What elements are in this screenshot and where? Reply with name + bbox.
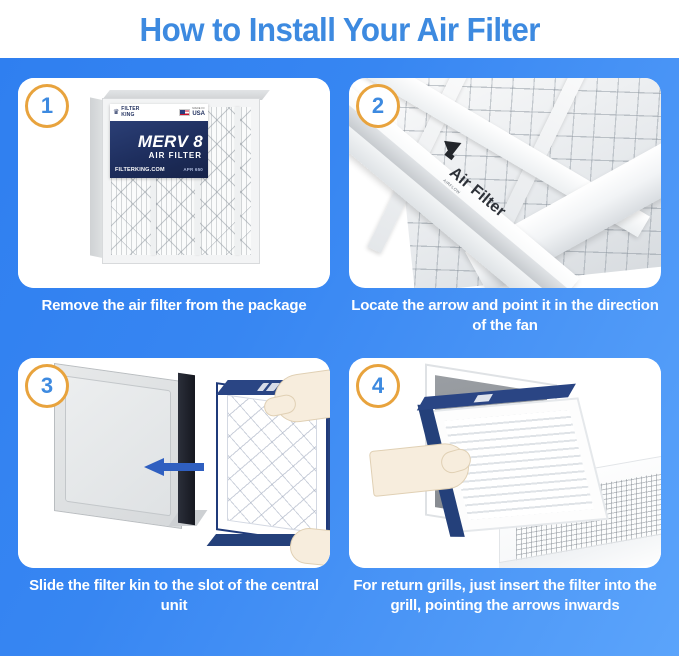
- filter-king-logo: ♛ FILTER KING: [113, 107, 140, 118]
- made-in-usa-badge: MADE IN USA: [179, 108, 205, 117]
- central-unit-panel: [65, 376, 171, 517]
- step-badge-4: 4: [356, 364, 400, 408]
- label-subtitle: AIR FILTER: [110, 151, 202, 160]
- page-title: How to Install Your Air Filter: [139, 13, 539, 46]
- country-text: USA: [192, 111, 205, 117]
- step-3-card: 3: [18, 358, 330, 568]
- filter-label-header: ♛ FILTER KING MADE IN: [110, 104, 208, 121]
- title-band: How to Install Your Air Filter: [0, 0, 679, 58]
- central-unit-slot: [178, 373, 195, 525]
- step-2-card: Air Filter AIRFLOW 2: [349, 78, 661, 288]
- step-caption-4: For return grills, just insert the filte…: [345, 576, 665, 616]
- usa-flag-icon: [179, 109, 190, 116]
- step-panel-1: ♛ FILTER KING MADE IN: [18, 78, 330, 288]
- merv-rating: MERV 8: [110, 132, 203, 152]
- step-badge-2: 2: [356, 84, 400, 128]
- brand-website: FILTERKING.COM: [115, 167, 165, 173]
- filter-rib: [235, 107, 240, 255]
- brand-line-2: KING: [121, 112, 134, 118]
- apr-rating: APR 650: [183, 167, 203, 172]
- step-panel-3: 3 Slide the filter kin to the slot of th…: [18, 358, 330, 568]
- step-panel-4: 4 For return grills, just insert the fil…: [349, 358, 661, 568]
- crown-icon: ♛: [113, 109, 119, 116]
- step-caption-2: Locate the arrow and point it in the dir…: [345, 296, 665, 336]
- insert-direction-arrow-icon: [144, 458, 204, 476]
- step-badge-3: 3: [25, 364, 69, 408]
- filter-label: ♛ FILTER KING MADE IN: [110, 104, 208, 178]
- air-filter-product-image: ♛ FILTER KING MADE IN: [90, 98, 262, 266]
- step-badge-1: 1: [25, 84, 69, 128]
- step-4-card: 4: [349, 358, 661, 568]
- infographic-poster: How to Install Your Air Filter: [0, 0, 679, 656]
- step-1-card: ♛ FILTER KING MADE IN: [18, 78, 330, 288]
- central-unit-body: [54, 363, 182, 529]
- filter-label-footer: FILTERKING.COM APR 650: [115, 167, 203, 173]
- step-caption-3: Slide the filter kin to the slot of the …: [14, 576, 334, 616]
- steps-grid: ♛ FILTER KING MADE IN: [0, 58, 679, 656]
- step-caption-1: Remove the air filter from the package: [14, 296, 334, 316]
- step-panel-2: Air Filter AIRFLOW 2 Locate the arrow an…: [349, 78, 661, 288]
